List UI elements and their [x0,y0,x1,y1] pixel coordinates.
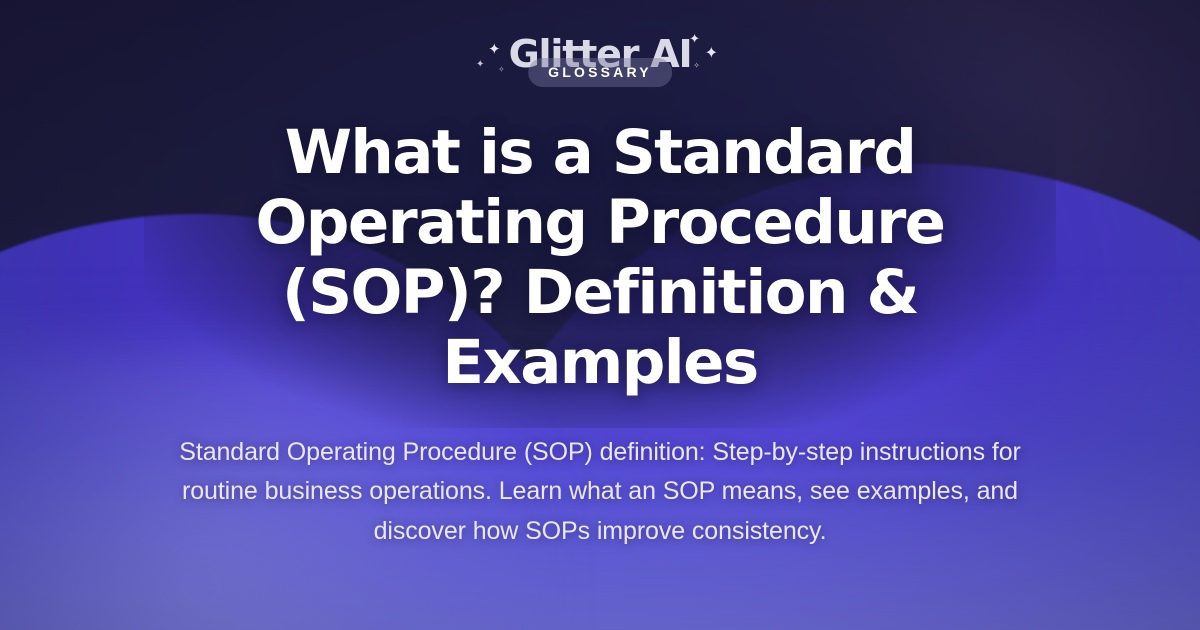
hero-content: ✦ ✦ ✧ Glitter AI ✦ ✦ ✧ GLOSSARY What is … [0,0,1200,630]
sparkle-icon: ✦ [705,46,718,62]
page-title: What is a Standard Operating Procedure (… [250,118,950,399]
glossary-badge: GLOSSARY [528,58,672,87]
page-subtitle: Standard Operating Procedure (SOP) defin… [150,433,1050,552]
sparkle-icon: ✧ [693,62,700,70]
brand-logo[interactable]: ✦ ✦ ✧ Glitter AI ✦ ✦ ✧ GLOSSARY [470,30,730,96]
sparkle-icon: ✦ [689,32,700,45]
